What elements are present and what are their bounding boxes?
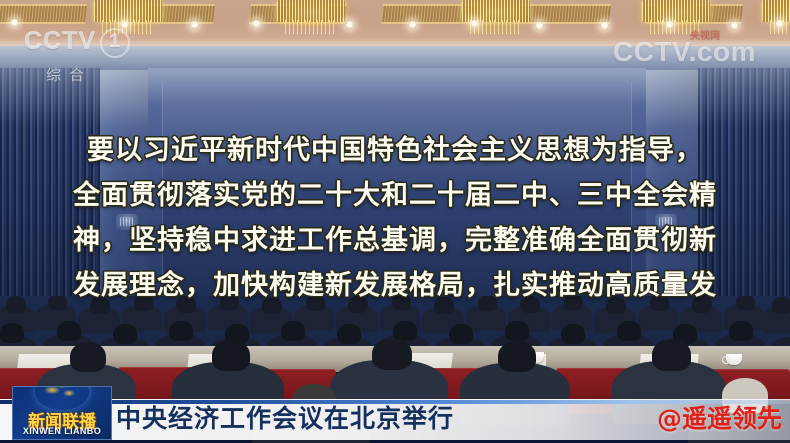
audience-head: [169, 321, 193, 341]
hall-ceiling: [0, 0, 790, 52]
audience-head: [650, 296, 669, 311]
audience-head: [692, 296, 712, 313]
ceiling-light: [190, 20, 199, 29]
lower-third-headline: 中央经济工作会议在北京举行: [116, 404, 454, 434]
lower-third-banner: 中央经济工作会议在北京举行 新闻联播 XINWEN LIANBO: [0, 396, 790, 443]
ceiling-light: [535, 21, 544, 30]
chandelier: [440, 0, 552, 38]
xinwen-lianbo-logo: 新闻联播 XINWEN LIANBO: [12, 386, 112, 440]
audience-head: [393, 321, 417, 341]
ceiling-light: [775, 19, 784, 28]
audience-head: [564, 296, 583, 310]
chandelier: [740, 0, 790, 38]
chandelier: [72, 0, 184, 38]
audience-head: [281, 321, 305, 341]
wall-sconce-right: [655, 214, 677, 230]
foreground-head: [652, 340, 691, 371]
ceiling-light: [120, 20, 129, 29]
foreground-head: [212, 340, 250, 371]
chandelier: [620, 0, 732, 38]
hall-backdrop: [0, 46, 790, 336]
audience-head: [617, 321, 641, 341]
audience-head: [262, 297, 282, 314]
audience-head: [220, 296, 239, 310]
audience-head: [90, 297, 110, 314]
foreground-head: [372, 340, 412, 370]
audience-head: [176, 296, 196, 313]
audience-head: [6, 296, 26, 313]
ceiling-light: [10, 18, 19, 27]
ceiling-light: [730, 21, 739, 30]
ceiling-light: [345, 20, 354, 29]
xinwen-lianbo-en: XINWEN LIANBO: [13, 426, 111, 436]
ceiling-light: [600, 21, 609, 30]
audience-head: [48, 296, 67, 310]
ceiling-light: [252, 19, 261, 28]
wall-sconce-left: [116, 214, 138, 230]
audience-head: [348, 296, 368, 313]
ceiling-light: [665, 20, 674, 29]
broadcast-frame: CCTV1 综合 央视网 CCTV.com 要以习近平新时代中国特色社会主义思想…: [0, 0, 790, 443]
chandelier: [255, 0, 367, 38]
audience-head: [520, 296, 540, 313]
audience-head: [392, 296, 411, 310]
audience-head: [729, 321, 753, 341]
audience-head: [606, 297, 626, 314]
audience-head: [306, 296, 325, 311]
audience-head: [736, 296, 755, 310]
foreground-head: [498, 341, 536, 372]
foreground-head: [70, 342, 106, 372]
audience-head: [434, 297, 454, 314]
ceiling-light: [408, 20, 417, 29]
audience-head: [772, 297, 790, 314]
audience-head: [57, 321, 81, 341]
audience-head: [505, 321, 529, 341]
audience-head: [134, 296, 153, 311]
ceiling-light: [470, 19, 479, 28]
audience-head: [478, 296, 497, 311]
